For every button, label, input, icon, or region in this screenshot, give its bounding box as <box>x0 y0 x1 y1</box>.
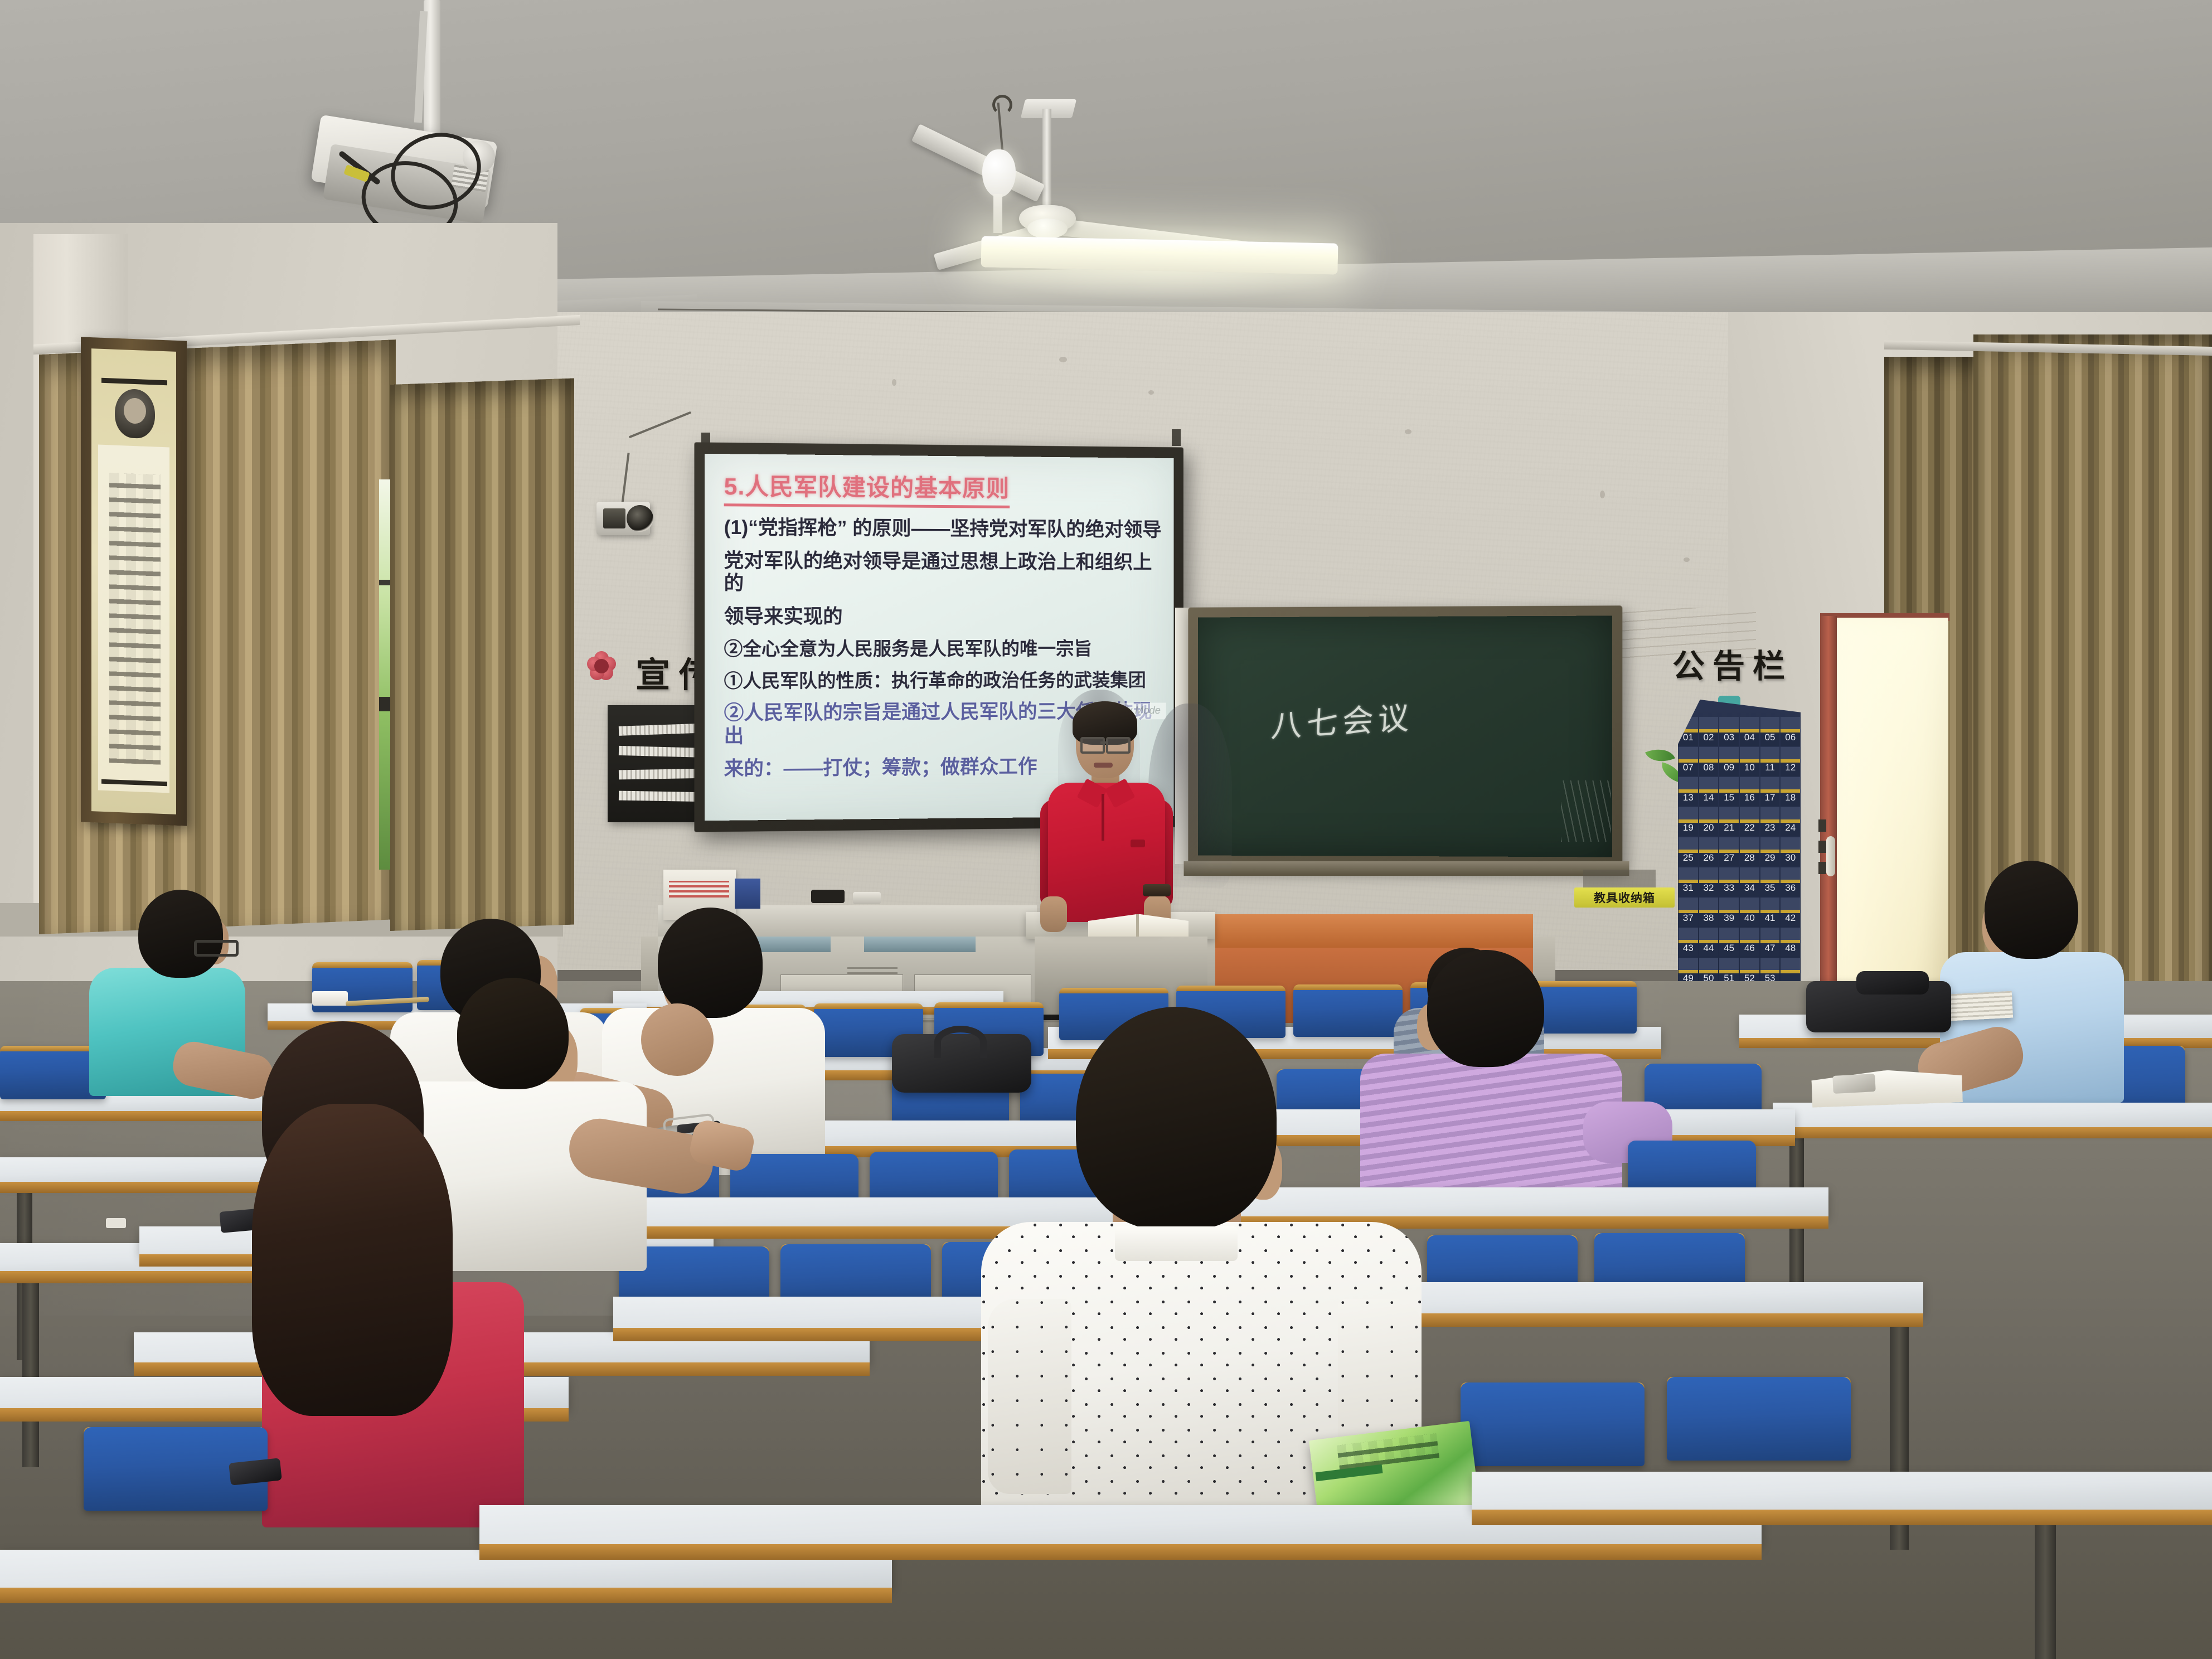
pocket-slot[interactable]: 35 <box>1760 867 1780 896</box>
pocket-row: 131415161718 <box>1678 777 1801 807</box>
desk-edge <box>0 1182 290 1193</box>
pocket-slot[interactable]: 29 <box>1760 837 1780 866</box>
flower-decoration-icon <box>586 651 617 681</box>
pocket-row: 313233343536 <box>1678 867 1801 897</box>
light-bulb-icon <box>982 149 1016 197</box>
pocket-slot[interactable]: 38 <box>1699 898 1719 926</box>
pocket-slot[interactable]: 41 <box>1760 898 1780 926</box>
chair-trim <box>1527 981 1637 987</box>
pocket-slot[interactable]: 02 <box>1699 717 1719 746</box>
wooden-podium-top <box>1215 914 1533 948</box>
black-bag-right-flap <box>1856 971 1929 995</box>
black-equipment-item <box>811 890 845 903</box>
instructor-hand-left <box>1040 896 1067 932</box>
pocket-slot[interactable]: 06 <box>1781 717 1800 746</box>
pocket-slot[interactable]: 39 <box>1719 898 1739 926</box>
pocket-slot[interactable]: 12 <box>1781 747 1800 776</box>
blackboard-chalk-dust <box>1561 780 1611 842</box>
fan-rod <box>1042 109 1051 209</box>
chair-front-c[interactable] <box>1461 1382 1645 1466</box>
wall-spot <box>1405 429 1411 434</box>
chair-trim <box>1293 984 1403 990</box>
eraser-on-desk[interactable] <box>106 1218 126 1228</box>
screen-hanger-right <box>1172 429 1181 446</box>
wall-spot <box>1059 357 1067 362</box>
curtain-left-panel-2[interactable] <box>390 378 574 931</box>
glasses-icon-left-lens <box>1080 737 1105 754</box>
portrait-face <box>124 397 146 424</box>
student-purple-head <box>1427 950 1544 1067</box>
pocket-slot[interactable]: 32 <box>1699 867 1719 896</box>
pocket-slot[interactable]: 30 <box>1781 837 1800 866</box>
desk-leg <box>22 1283 39 1467</box>
pocket-slot[interactable]: 15 <box>1719 777 1739 806</box>
pocket-slot[interactable]: 16 <box>1740 777 1759 806</box>
pocket-slot[interactable]: 47 <box>1760 928 1780 957</box>
pocket-slot[interactable]: 46 <box>1740 928 1759 957</box>
desk-edge <box>0 1588 892 1603</box>
student-red-long-hair <box>252 1104 453 1416</box>
phone-pocket-organizer[interactable]: 0102030405060708091011121314151617181920… <box>1678 700 1801 1017</box>
speaker-cone-icon <box>627 505 653 532</box>
chair-row1-h[interactable] <box>1293 984 1403 1037</box>
pocket-slot[interactable]: 03 <box>1719 717 1739 746</box>
speaker-panel <box>603 508 625 528</box>
pocket-row: 010203040506 <box>1678 716 1801 746</box>
pocket-slot[interactable]: 19 <box>1679 807 1698 836</box>
pocket-slot[interactable]: 36 <box>1781 867 1800 896</box>
pocket-row: 373839404142 <box>1678 897 1801 927</box>
pocket-slot[interactable]: 45 <box>1719 928 1739 957</box>
blue-equipment-item <box>735 879 760 909</box>
desk-edge <box>0 1111 262 1121</box>
desk-edge <box>1773 1127 2212 1138</box>
chair-trim <box>814 1003 923 1009</box>
pocket-slot[interactable]: 37 <box>1679 898 1698 926</box>
desk-edge <box>479 1544 1762 1560</box>
slide-line-2: 党对军队的绝对领导是通过思想上政治上和组织上的 <box>724 550 1164 596</box>
chair-front-d[interactable] <box>1667 1377 1851 1461</box>
desk-row2-left[interactable] <box>0 1157 290 1183</box>
student-teal-glasses-icon <box>194 940 239 957</box>
wall-spot <box>1148 390 1154 395</box>
pocket-slot[interactable]: 08 <box>1699 747 1719 776</box>
pocket-slot[interactable]: 48 <box>1781 928 1800 957</box>
phone-right-desk[interactable] <box>1832 1074 1876 1094</box>
small-equipment-item <box>853 892 881 904</box>
pocket-slot[interactable]: 24 <box>1781 807 1800 836</box>
slide-line-5: ①人民军队的性质：执行革命的政治任务的武装集团 <box>724 670 1164 692</box>
pocket-slot[interactable]: 14 <box>1699 777 1719 806</box>
pocket-slot[interactable]: 31 <box>1679 867 1698 896</box>
pocket-row: 252627282930 <box>1678 837 1801 867</box>
slide-line-3: 领导来实现的 <box>724 605 1164 628</box>
slide-line-1: (1)“党指挥枪” 的原则——坚持党对军队的绝对领导 <box>724 516 1164 541</box>
desk-edge <box>1472 1510 2212 1525</box>
pocket-slot[interactable]: 22 <box>1740 807 1759 836</box>
chair-trim <box>934 1002 1044 1008</box>
student-blue-head <box>1985 861 2078 959</box>
desk-row3-right[interactable] <box>1232 1187 1828 1217</box>
pocket-slot[interactable]: 11 <box>1760 747 1780 776</box>
pocket-slot[interactable]: 34 <box>1740 867 1759 896</box>
pocket-slot[interactable]: 05 <box>1760 717 1780 746</box>
portrait-calligraphy <box>109 473 161 765</box>
wall-spot <box>1600 491 1605 498</box>
pocket-slot[interactable]: 26 <box>1699 837 1719 866</box>
classroom-scene: 宣传 5.人民军队建设的基本原则 (1)“党指挥枪” 的原则——坚持党对军队的绝… <box>0 0 2212 1659</box>
pocket-row: 434445464748 <box>1678 927 1801 957</box>
student-teal-head <box>138 890 223 978</box>
backpack-strap <box>934 1026 987 1058</box>
instructor-shirt-placket <box>1102 794 1104 841</box>
bulb-hook <box>992 95 1012 115</box>
student-raised-head <box>457 978 569 1089</box>
equipment-label-red <box>669 881 729 898</box>
storage-box-label: 教具收纳箱 <box>1574 887 1675 908</box>
wristwatch-icon <box>1143 884 1171 896</box>
door-hinge <box>1818 862 1826 874</box>
pocket-slot[interactable]: 09 <box>1719 747 1739 776</box>
chair-trim <box>1176 986 1286 991</box>
pocket-slot[interactable]: 28 <box>1740 837 1759 866</box>
student-white-center-head <box>658 908 763 1018</box>
student-dots-arm-left <box>988 1299 1071 1494</box>
glasses-icon-right-lens <box>1106 737 1131 754</box>
blackboard-chalk-text: 八七会议 <box>1270 692 1414 746</box>
wall-spot <box>1684 557 1690 562</box>
open-book-spine <box>1136 914 1139 937</box>
desk-leg <box>2035 1525 2056 1659</box>
chair-trim <box>312 962 413 968</box>
storage-box-label-text: 教具收纳箱 <box>1594 889 1655 906</box>
pocket-slot[interactable]: 27 <box>1719 837 1739 866</box>
pocket-slot[interactable]: 07 <box>1679 747 1698 776</box>
sign-shadow <box>1583 870 1656 890</box>
blackboard-chalk-tray <box>1184 861 1629 876</box>
pocket-slot[interactable]: 23 <box>1760 807 1780 836</box>
slide-line-4: ②全心全意为人民服务是人民军队的唯一宗旨 <box>724 638 1164 660</box>
pocket-slot[interactable]: 20 <box>1699 807 1719 836</box>
instructor-mouth <box>1094 763 1113 768</box>
student-dots-head <box>1076 1007 1277 1230</box>
chair-trim <box>1059 988 1168 993</box>
instructor-shirt-logo <box>1131 840 1145 847</box>
pocket-slot[interactable]: 10 <box>1740 747 1759 776</box>
desk-front-right[interactable] <box>1472 1472 2212 1511</box>
pocket-slot[interactable]: 42 <box>1781 898 1800 926</box>
pocket-slot[interactable]: 04 <box>1740 717 1759 746</box>
pocket-slot[interactable]: 18 <box>1781 777 1800 806</box>
student-white-center-hand <box>641 1003 714 1076</box>
pocket-slot[interactable]: 21 <box>1719 807 1739 836</box>
pocket-row: 070809101112 <box>1678 746 1801 777</box>
tissue-on-desk[interactable] <box>312 991 348 1006</box>
pocket-slot[interactable]: 13 <box>1679 777 1698 806</box>
slide-title: 5.人民军队建设的基本原则 <box>724 467 1010 508</box>
doorway-daylight <box>1837 618 1948 1025</box>
pocket-slot[interactable]: 44 <box>1699 928 1719 957</box>
cabinet-slot-2 <box>864 937 976 952</box>
pocket-row: 192021222324 <box>1678 807 1801 837</box>
pocket-slot[interactable]: 43 <box>1679 928 1698 957</box>
pocket-slot[interactable]: 40 <box>1740 898 1759 926</box>
glasses-icon-bridge <box>1100 741 1107 744</box>
door-hinge <box>1818 841 1826 853</box>
wall-spot <box>892 379 896 386</box>
pocket-slot[interactable]: 33 <box>1719 867 1739 896</box>
pocket-slot[interactable]: 25 <box>1679 837 1698 866</box>
wall-sign-gonggaolan: 公告栏 <box>1672 640 1793 687</box>
door-hinge <box>1818 819 1826 832</box>
pocket-slot[interactable]: 17 <box>1760 777 1780 806</box>
bulb-stem <box>993 194 1002 233</box>
student-dots-collar <box>1115 1226 1238 1261</box>
door-handle-icon[interactable] <box>1826 836 1835 876</box>
